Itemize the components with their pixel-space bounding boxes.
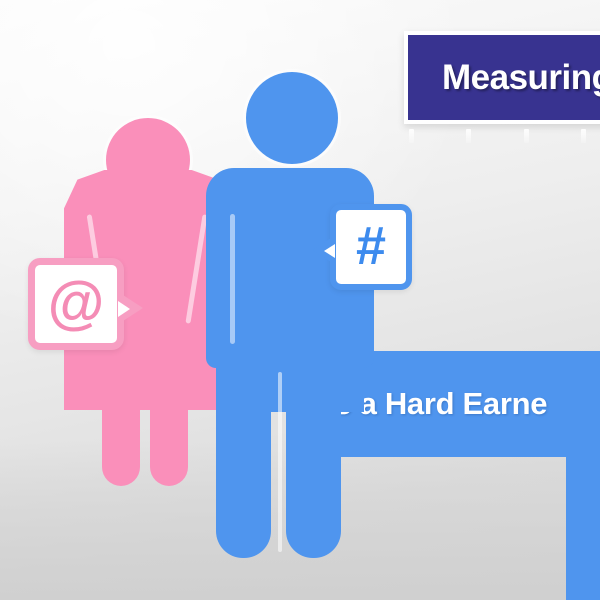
- at-symbol-icon: @: [48, 274, 105, 332]
- hash-symbol-speech-bubble: #: [330, 204, 412, 290]
- male-figure-left-leg: [216, 372, 271, 558]
- male-figure-leg-seam: [278, 372, 282, 552]
- headline-banner-text: Measuring: [442, 58, 600, 98]
- male-figure-left-arm-seam: [230, 214, 235, 344]
- male-figure-right-leg: [286, 372, 341, 558]
- hash-bubble-tail-inner: [324, 244, 335, 258]
- slide-canvas: is a Hard Earne @ # Measuring: [0, 0, 600, 600]
- tick-mark: [581, 129, 586, 143]
- female-figure-right-leg: [150, 350, 188, 486]
- at-symbol-speech-bubble: @: [28, 258, 124, 350]
- male-figure: [200, 72, 375, 522]
- tick-mark: [524, 129, 529, 143]
- subtitle-banner: is a Hard Earne: [338, 351, 600, 457]
- female-figure-left-leg: [102, 350, 140, 486]
- headline-banner: Measuring: [404, 31, 600, 124]
- male-figure-head: [246, 72, 338, 164]
- at-bubble-tail-inner: [118, 301, 130, 317]
- tick-mark: [466, 129, 471, 143]
- hash-symbol-icon: #: [356, 219, 386, 273]
- tick-mark-row: [404, 129, 600, 145]
- subtitle-banner-right-column: [566, 455, 600, 600]
- tick-mark: [409, 129, 414, 143]
